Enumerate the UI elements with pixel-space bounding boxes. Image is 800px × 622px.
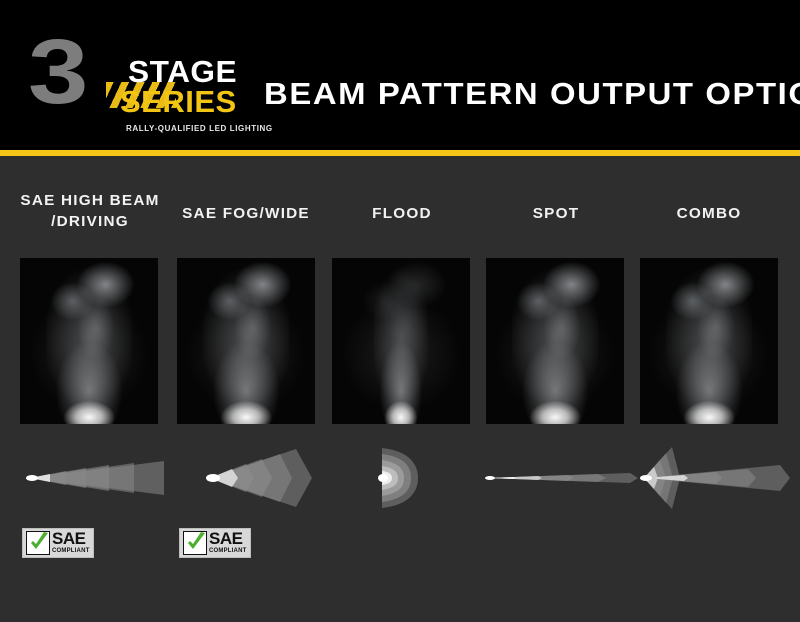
column-header-spot: SPOT xyxy=(474,203,637,224)
brand-word-series: SERIES xyxy=(120,86,237,117)
sae-compliant-badge-driving: SAE COMPLIANT xyxy=(22,528,94,558)
beam-photo-combo[interactable] xyxy=(640,258,778,424)
check-icon xyxy=(26,531,50,555)
poster-root: 3 STAGE SERIES RALLY-QUALIFIED LED LIGHT… xyxy=(0,0,800,622)
brand-word-stage: STAGE xyxy=(128,56,237,87)
beam-diagram-driving xyxy=(14,443,164,513)
column-header-driving: SAE HIGH BEAM /DRIVING xyxy=(8,190,171,232)
check-icon xyxy=(183,531,207,555)
beam-photo-spot[interactable] xyxy=(486,258,624,424)
photo-road-hotspot xyxy=(666,258,752,424)
sae-compliant-badge-fog-wide: SAE COMPLIANT xyxy=(179,528,251,558)
beam-diagram-fog-wide xyxy=(200,443,320,513)
sae-badge-subtitle: COMPLIANT xyxy=(209,547,246,555)
beam-photo-driving[interactable] xyxy=(20,258,158,424)
photo-road-hotspot xyxy=(373,258,428,424)
page-title: BEAM PATTERN OUTPUT OPTIONS xyxy=(264,76,800,112)
sae-badge-title: SAE xyxy=(209,531,246,547)
brand-numeral: 3 xyxy=(28,26,84,118)
brand-logo: 3 STAGE SERIES RALLY-QUALIFIED LED LIGHT… xyxy=(28,26,243,126)
beam-photo-flood[interactable] xyxy=(332,258,470,424)
column-header-combo: COMBO xyxy=(627,203,790,224)
sae-badge-text: SAE COMPLIANT xyxy=(52,531,89,555)
beam-diagram-flood xyxy=(370,443,440,513)
brand-tagline: RALLY-QUALIFIED LED LIGHTING xyxy=(126,124,273,133)
sae-badge-subtitle: COMPLIANT xyxy=(52,547,89,555)
column-header-flood: FLOOD xyxy=(320,203,483,224)
header-bar: 3 STAGE SERIES RALLY-QUALIFIED LED LIGHT… xyxy=(0,0,800,150)
accent-divider xyxy=(0,150,800,156)
beam-photo-fog-wide[interactable] xyxy=(177,258,315,424)
beam-diagram-combo xyxy=(628,443,793,513)
photo-road-hotspot xyxy=(46,258,132,424)
column-header-fog-wide: SAE FOG/WIDE xyxy=(164,203,327,224)
photo-road-hotspot xyxy=(512,258,598,424)
photo-road-hotspot xyxy=(203,258,289,424)
beam-diagram-spot xyxy=(480,443,640,513)
sae-badge-title: SAE xyxy=(52,531,89,547)
sae-badge-text: SAE COMPLIANT xyxy=(209,531,246,555)
